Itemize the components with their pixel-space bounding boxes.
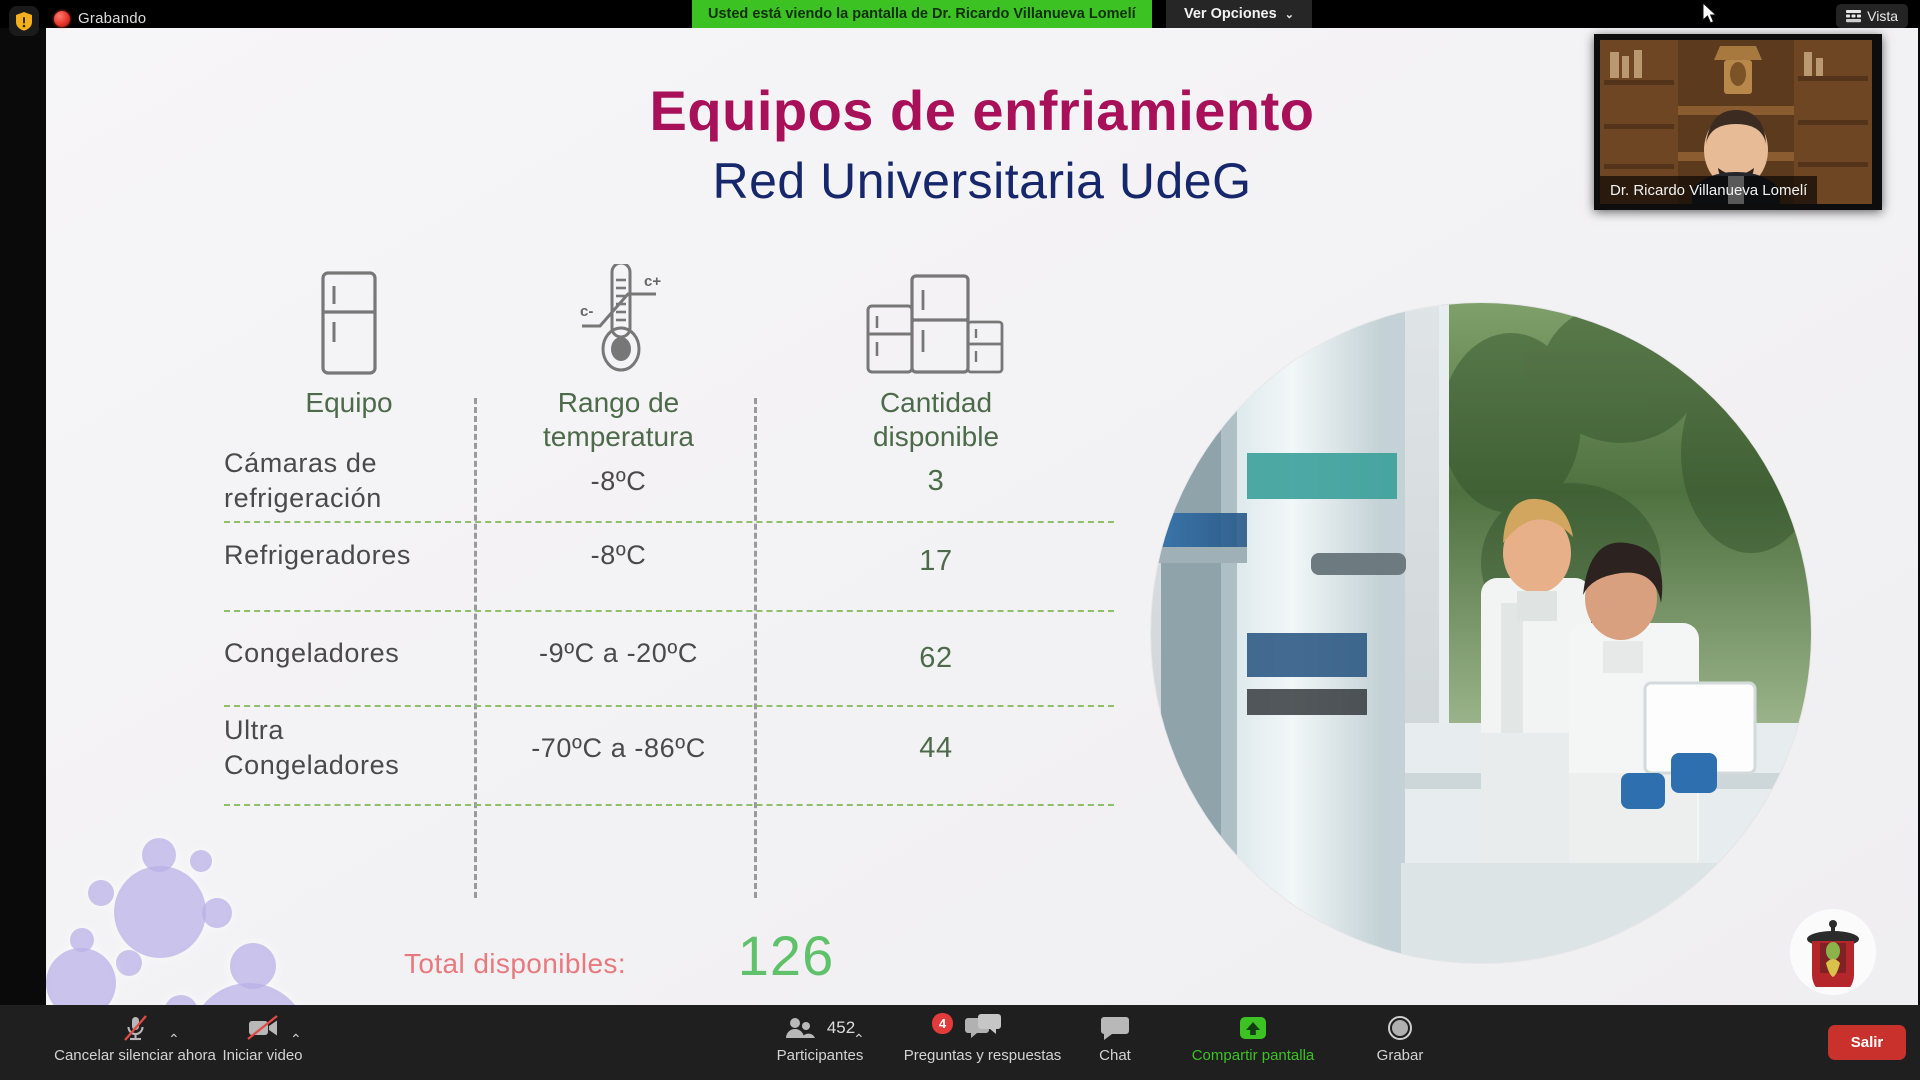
self-video-name: Dr. Ricardo Villanueva Lomelí (1600, 176, 1817, 204)
screen-sharing-banner: Usted está viendo la pantalla de Dr. Ric… (692, 0, 1152, 28)
udeg-seal-icon (1790, 909, 1876, 995)
row-name-line2: refrigeración (224, 481, 474, 516)
multiple-refrigerators-icon (766, 258, 1106, 376)
row-qty: 17 (766, 543, 1106, 580)
participants-count: 452 (827, 1018, 855, 1038)
chat-label: Chat (1099, 1047, 1131, 1064)
row-name-line1: Cámaras de (224, 446, 474, 481)
row-divider (224, 804, 1114, 806)
security-shield-badge[interactable] (9, 6, 39, 36)
header-rango-line1: Rango de (486, 386, 751, 420)
row-qty: 62 (766, 640, 1106, 677)
audio-options-caret[interactable]: ⌃ (168, 1031, 180, 1048)
column-divider-1 (474, 398, 477, 898)
record-button[interactable]: Grabar (1325, 1011, 1475, 1077)
row-temp: -9ºC a -20ºC (486, 636, 751, 671)
shield-warning-icon (15, 11, 33, 31)
row-qty: 44 (766, 730, 1106, 767)
zoom-meeting-window: Equipos de enfriamiento Red Universitari… (0, 0, 1920, 1080)
mute-label: Cancelar silenciar ahora (54, 1047, 216, 1064)
row-qty: 3 (766, 463, 1106, 500)
total-value: 126 (666, 923, 906, 988)
view-options-label: Ver Opciones (1184, 6, 1277, 22)
row-divider (224, 705, 1114, 707)
row-temp: -8ºC (486, 464, 751, 499)
share-screen-label: Compartir pantalla (1192, 1047, 1315, 1064)
recording-dot-icon (54, 11, 70, 27)
participants-label: Participantes (777, 1047, 864, 1064)
chevron-down-icon: ⌄ (1285, 8, 1294, 21)
header-rango-temperatura: c- c+ Rango de temperatura (486, 258, 751, 454)
meeting-toolbar: Cancelar silenciar ahora ⌃ Iniciar video… (0, 1005, 1920, 1080)
row-divider (224, 521, 1114, 523)
mute-button[interactable]: Cancelar silenciar ahora (40, 1011, 230, 1077)
row-temp: -70ºC a -86ºC (486, 731, 751, 766)
mouse-cursor (1702, 2, 1720, 26)
header-equipo: Equipo (224, 258, 474, 420)
self-video-thumbnail[interactable]: Dr. Ricardo Villanueva Lomelí (1594, 34, 1882, 210)
row-name-line1: Refrigeradores (224, 538, 474, 573)
chat-bubble-icon (1100, 1011, 1130, 1045)
qa-badge: 4 (932, 1013, 953, 1034)
row-name-line1: Ultra (224, 713, 474, 748)
thermometer-icon: c- c+ (486, 258, 751, 376)
view-layout-label: Vista (1867, 8, 1898, 24)
qa-bubbles-icon (964, 1011, 1002, 1045)
start-video-label: Iniciar video (222, 1047, 302, 1064)
row-name-line1: Congeladores (224, 636, 474, 671)
header-cantidad-line2: disponible (766, 420, 1106, 454)
camera-off-icon (246, 1011, 280, 1045)
start-video-button[interactable]: Iniciar video (205, 1011, 320, 1077)
table-header-row: Equipo (206, 258, 1126, 478)
header-rango-line2: temperatura (486, 420, 751, 454)
refrigerator-icon (224, 258, 474, 376)
laboratory-photo (1151, 303, 1811, 963)
row-temp: -8ºC (486, 538, 751, 573)
participants-caret[interactable]: ⌃ (853, 1031, 865, 1048)
virus-decoration-3 (46, 928, 136, 1005)
microphone-muted-icon (120, 1011, 150, 1045)
header-equipo-label: Equipo (224, 386, 474, 420)
participants-icon: 452 (785, 1011, 855, 1045)
share-screen-up-arrow-icon (1237, 1011, 1269, 1045)
column-divider-2 (754, 398, 757, 898)
video-options-caret[interactable]: ⌃ (290, 1031, 302, 1048)
record-circle-icon (1387, 1011, 1413, 1045)
row-divider (224, 610, 1114, 612)
qa-label: Preguntas y respuestas (904, 1047, 1062, 1064)
grid-view-icon (1846, 10, 1861, 23)
leave-meeting-button[interactable]: Salir (1828, 1025, 1906, 1060)
svg-text:c+: c+ (644, 273, 661, 290)
svg-text:c-: c- (580, 303, 593, 320)
header-cantidad-line1: Cantidad (766, 386, 1106, 420)
record-label: Grabar (1377, 1047, 1424, 1064)
view-options-button[interactable]: Ver Opciones ⌄ (1166, 0, 1312, 28)
header-cantidad-disponible: Cantidad disponible (766, 258, 1106, 454)
equipment-table: Equipo (206, 258, 1126, 478)
total-label: Total disponibles: (296, 948, 626, 980)
top-status-bar: Grabando Usted está viendo la pantalla d… (0, 0, 1920, 28)
view-layout-button[interactable]: Vista (1836, 4, 1908, 28)
recording-label: Grabando (78, 10, 146, 27)
row-name-line2: Congeladores (224, 748, 474, 783)
